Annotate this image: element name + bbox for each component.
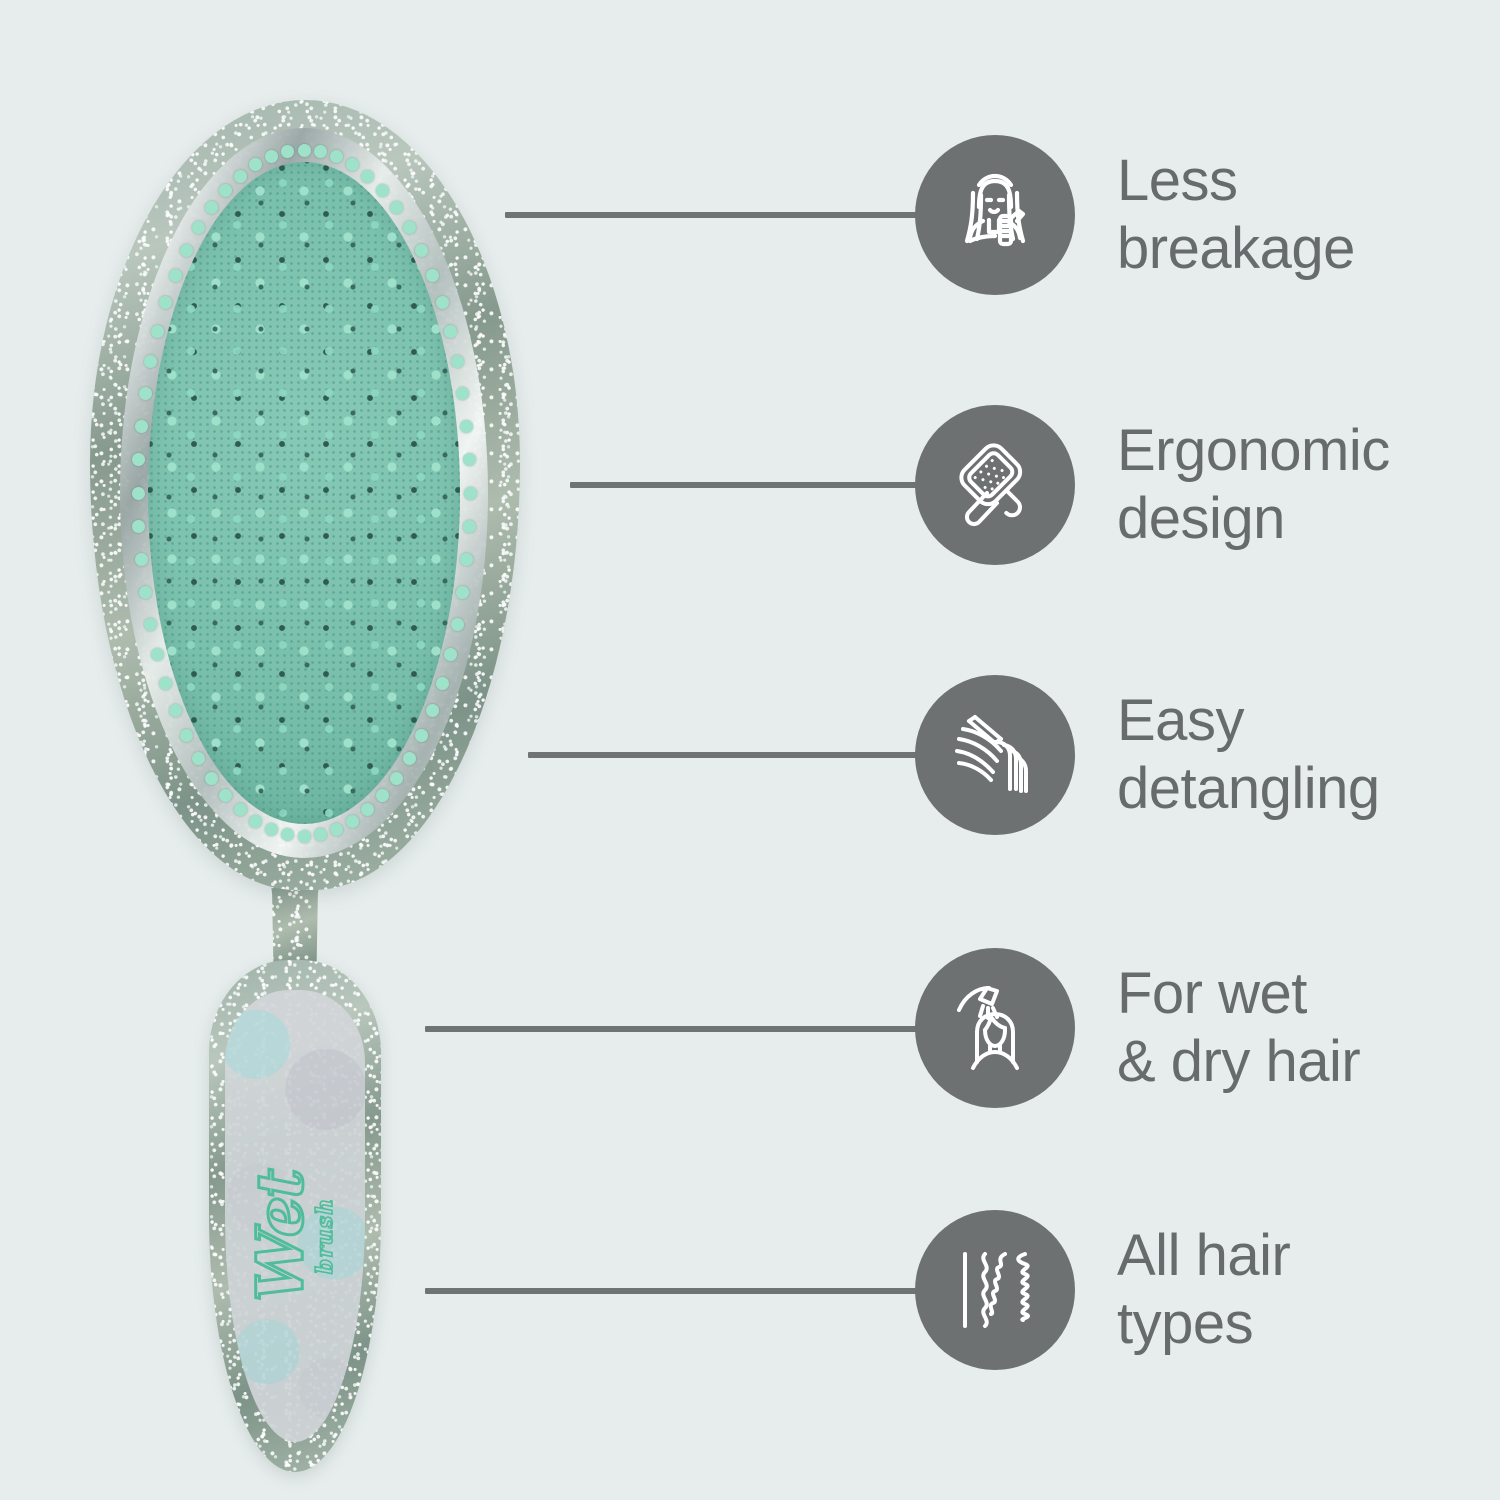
feature-all-hair-types[interactable]: All hair types — [915, 1210, 1290, 1370]
showerhead-over-head-icon — [915, 948, 1075, 1108]
infographic-canvas: Wet brush — [0, 0, 1500, 1500]
feature-for-wet-and-dry-hair[interactable]: For wet & dry hair — [915, 948, 1360, 1108]
feature-easy-detangling[interactable]: Easy detangling — [915, 675, 1380, 835]
girl-brushing-hair-icon — [915, 135, 1075, 295]
connector-line-easy-detangling — [528, 752, 918, 758]
feature-label: All hair types — [1117, 1222, 1290, 1359]
feature-callout-list: Less breakage E — [0, 0, 1500, 1500]
connector-line-all-hair-types — [425, 1288, 918, 1294]
feature-ergonomic-design[interactable]: Ergonomic design — [915, 405, 1390, 565]
hair-texture-lines-icon — [915, 1210, 1075, 1370]
feature-label: Less breakage — [1117, 147, 1355, 284]
feature-label: Easy detangling — [1117, 687, 1380, 824]
connector-line-for-wet-and-dry-hair — [425, 1026, 918, 1032]
feature-less-breakage[interactable]: Less breakage — [915, 135, 1355, 295]
paddle-brush-icon — [915, 405, 1075, 565]
connector-line-ergonomic-design — [570, 482, 918, 488]
feature-label: Ergonomic design — [1117, 417, 1390, 554]
feature-label: For wet & dry hair — [1117, 960, 1360, 1097]
connector-line-less-breakage — [505, 212, 917, 218]
comb-through-hair-icon — [915, 675, 1075, 835]
